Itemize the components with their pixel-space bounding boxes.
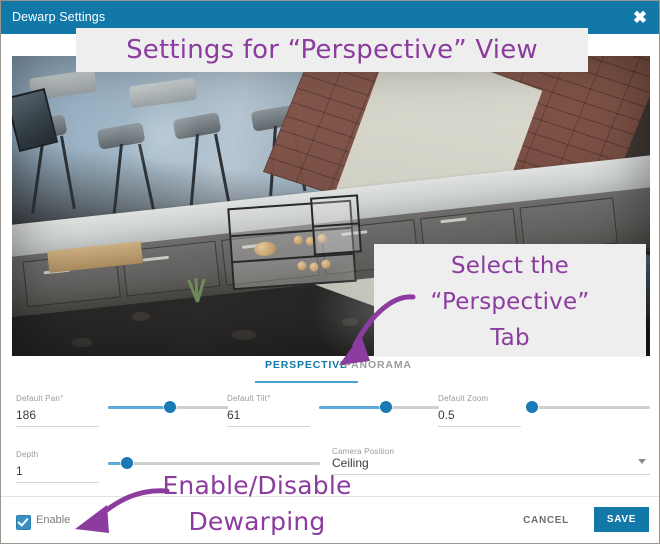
slider-fill <box>319 406 386 409</box>
save-button[interactable]: SAVE <box>594 507 649 532</box>
slider-fill <box>108 406 170 409</box>
annotation-top-callout: Settings for “Perspective” View <box>76 28 588 72</box>
dialog-title: Dewarp Settings <box>12 10 105 24</box>
default-zoom-label: Default Zoom <box>438 394 488 403</box>
slider-thumb[interactable] <box>380 401 392 413</box>
slider-track <box>530 406 650 409</box>
enable-dewarping-label: Enable <box>36 514 70 526</box>
default-tilt-label: Default Tilt° <box>227 394 271 403</box>
close-icon[interactable]: ✖ <box>629 7 651 29</box>
annotation-tab-callout: Select the “Perspective” Tab <box>374 244 646 357</box>
default-zoom-slider[interactable] <box>530 401 650 413</box>
slider-track <box>108 462 320 465</box>
annotation-tab-line3: Tab <box>374 320 646 356</box>
tab-panorama[interactable]: PANORAMA <box>344 359 412 379</box>
tab-active-indicator <box>255 381 358 383</box>
enable-dewarping-checkbox[interactable] <box>16 515 31 530</box>
annotation-tab-line2: “Perspective” <box>374 284 646 320</box>
preview-lens-glare <box>122 96 202 176</box>
default-zoom-input[interactable]: 0.5 <box>438 408 521 427</box>
camera-position-label: Camera Position <box>332 447 394 456</box>
camera-position-dropdown[interactable]: Ceiling <box>332 456 650 475</box>
depth-label: Depth <box>16 450 38 459</box>
depth-input[interactable]: 1 <box>16 464 99 483</box>
annotation-enable-callout: Enable/Disable Dewarping <box>141 467 373 539</box>
annotation-enable-line2: Dewarping <box>141 504 373 540</box>
default-tilt-input[interactable]: 61 <box>227 408 310 427</box>
default-pan-slider[interactable] <box>108 401 228 413</box>
preview-small-display <box>310 194 362 255</box>
slider-thumb[interactable] <box>121 457 133 469</box>
preview-plant <box>185 268 211 302</box>
slider-thumb[interactable] <box>164 401 176 413</box>
annotation-enable-line1: Enable/Disable <box>141 468 373 504</box>
annotation-tab-line1: Select the <box>374 248 646 284</box>
default-tilt-slider[interactable] <box>319 401 439 413</box>
default-pan-input[interactable]: 186 <box>16 408 99 427</box>
checkmark-icon <box>17 515 28 526</box>
view-mode-tabs: PERSPECTIVE PANORAMA <box>12 359 650 385</box>
tab-perspective[interactable]: PERSPECTIVE <box>265 359 348 379</box>
slider-thumb[interactable] <box>526 401 538 413</box>
dewarp-settings-dialog: Dewarp Settings ✖ <box>0 0 660 544</box>
cancel-button[interactable]: CANCEL <box>523 515 569 526</box>
default-pan-label: Default Pan° <box>16 394 63 403</box>
chevron-down-icon <box>638 459 646 464</box>
